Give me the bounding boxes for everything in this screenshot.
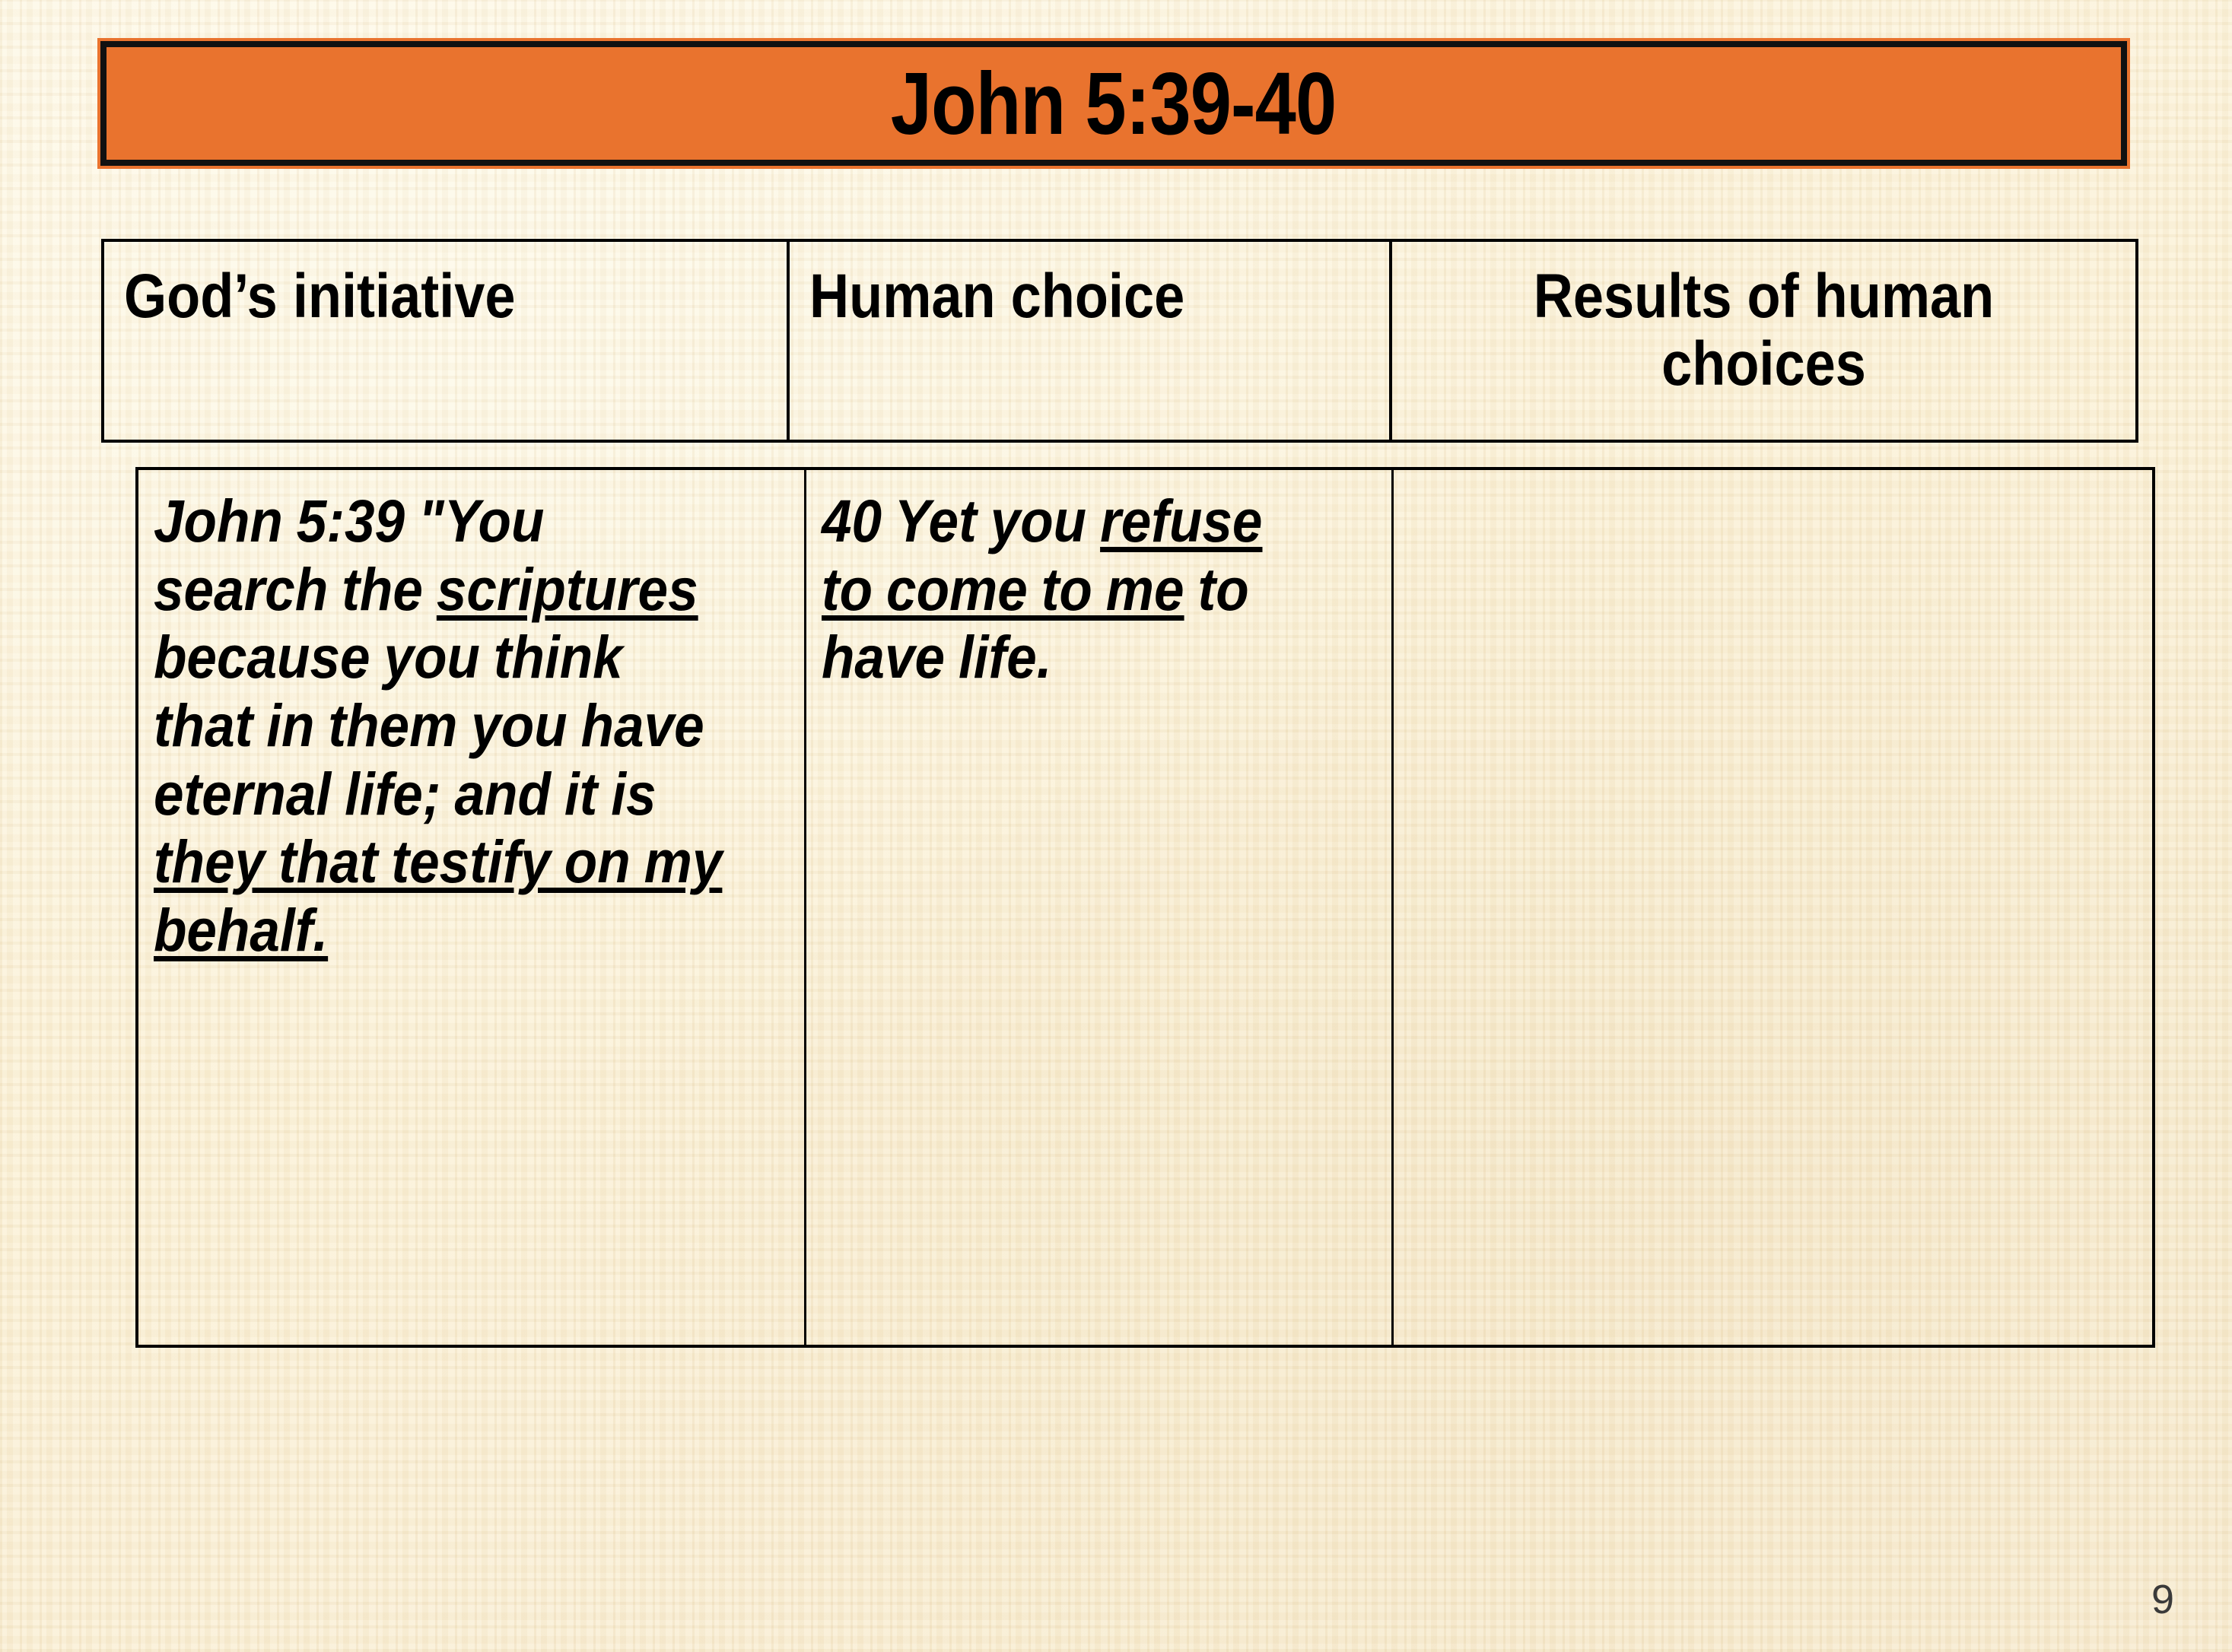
verse-text: 40 Yet you refuse to come to me to have …: [822, 487, 1323, 691]
table-header-label: God’s initiative: [124, 263, 690, 331]
table-header-cell-results-of-human-choices: Results of human choices: [1392, 242, 2135, 440]
table-body-row: John 5:39 "You search the scriptures bec…: [135, 467, 2155, 1348]
table-header-label: Human choice: [809, 263, 1302, 331]
verse-text: John 5:39 "You search the scriptures bec…: [154, 487, 727, 964]
title-banner: John 5:39-40: [97, 38, 2130, 169]
table-cell-human-choice: 40 Yet you refuse to come to me to have …: [806, 470, 1394, 1345]
title-banner-fill: John 5:39-40: [107, 47, 2121, 160]
table-header-cell-human-choice: Human choice: [790, 242, 1392, 440]
slide-canvas: John 5:39-40 God’s initiative Human choi…: [0, 0, 2232, 1652]
page-title: John 5:39-40: [891, 59, 1337, 148]
table-header-label: Results of human choices: [1455, 263, 2074, 398]
page-number: 9: [2151, 1579, 2174, 1620]
table-cell-gods-initiative: John 5:39 "You search the scriptures bec…: [138, 470, 806, 1345]
table-header-cell-gods-initiative: God’s initiative: [104, 242, 790, 440]
table-cell-results-of-human-choices: [1394, 470, 2152, 1345]
table-header-row: God’s initiative Human choice Results of…: [101, 239, 2138, 443]
